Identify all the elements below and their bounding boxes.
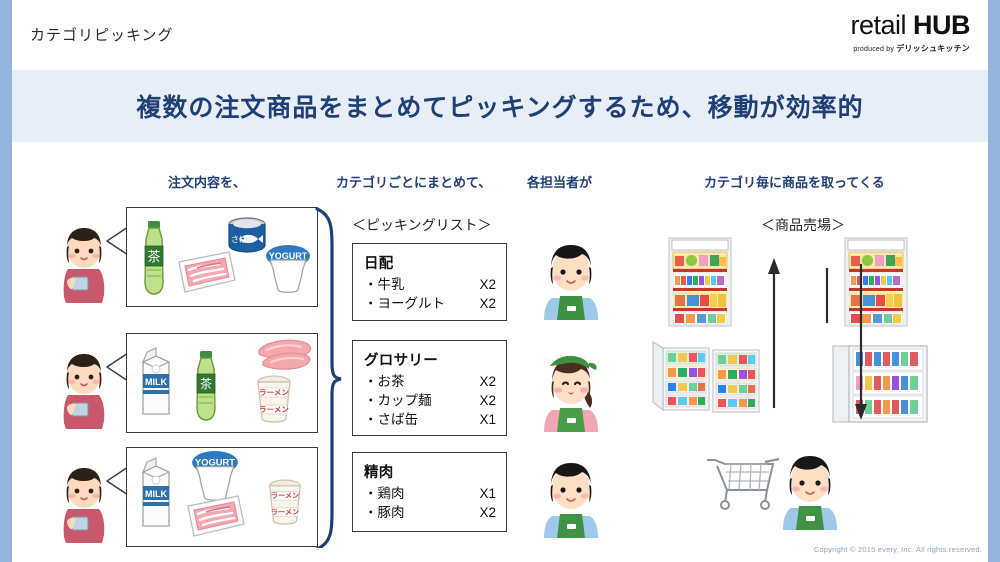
speech-tail (106, 351, 128, 383)
slide-canvas: カテゴリピッキング retail HUB produced by デリッシュキッ… (0, 0, 1000, 562)
picking-item-qty: X2 (479, 391, 496, 410)
meat-tray-icon (175, 250, 237, 296)
milk-carton-icon: MILK (135, 344, 177, 420)
svg-text:ラーメン: ラーメン (259, 405, 289, 414)
picking-line: ・カップ麺 X2 (364, 391, 496, 410)
banner-title: 複数の注文商品をまとめてピッキングするため、移動が効率的 (136, 88, 863, 124)
copyright-text: Copyright © 2015 every, Inc. All rights … (814, 545, 982, 554)
picking-item-name: ・豚肉 (364, 503, 405, 522)
picking-item-name: ・さば缶 (364, 410, 418, 429)
svg-text:MILK: MILK (145, 377, 167, 387)
shelf-cooler-left-b (713, 350, 759, 412)
staff-avatar-male (538, 458, 604, 540)
order-row: 茶 さば YOGURT (58, 207, 318, 315)
caption-staff: 各担当者が (527, 172, 592, 191)
order-contents-box: MILK 茶 ラーメン (126, 333, 318, 433)
svg-text:YOGURT: YOGURT (195, 458, 235, 468)
picking-line: ・さば缶 X1 (364, 410, 496, 429)
grouping-brace (312, 205, 344, 553)
caption-grouping: カテゴリごとにまとめて、 (336, 172, 491, 191)
svg-text:YOGURT: YOGURT (269, 251, 308, 261)
logo-hub-text: HUB (913, 10, 970, 40)
svg-text:茶: 茶 (200, 376, 212, 391)
shelf-top-right (845, 238, 907, 326)
green-tea-bottle-icon: 茶 (137, 220, 171, 296)
svg-text:ラーメン: ラーメン (271, 492, 299, 500)
picking-card-category: 精肉 (364, 461, 496, 482)
picking-line: ・ヨーグルト X2 (364, 294, 496, 313)
order-contents-box: 茶 さば YOGURT (126, 207, 318, 307)
logo-wordmark: retail HUB (850, 12, 970, 39)
store-layout-diagram (655, 228, 990, 538)
logo-brand-text: デリッシュキッチン (896, 44, 970, 53)
picking-line: ・牛乳 X2 (364, 275, 496, 294)
svg-text:ラーメン: ラーメン (271, 508, 299, 516)
picking-item-qty: X1 (479, 484, 496, 503)
pork-tray-icon (183, 494, 247, 540)
picking-line: ・お茶 X2 (364, 372, 496, 391)
picking-card: 精肉 ・鶏肉 X1 ・豚肉 X2 (352, 452, 507, 532)
left-blue-rail (0, 0, 12, 562)
picking-item-qty: X2 (479, 294, 496, 313)
subcaption-picking-list: ＜ピッキングリスト＞ (352, 215, 492, 235)
picking-line: ・豚肉 X2 (364, 503, 496, 522)
picking-card: グロサリー ・お茶 X2 ・カップ麺 X2 ・さば缶 X1 (352, 340, 507, 436)
staff-avatar-male (538, 240, 604, 322)
green-tea-bottle-icon: 茶 (189, 350, 223, 422)
cup-noodle-icon: ラーメン ラーメン (263, 478, 307, 528)
route-arrow-up (768, 258, 780, 408)
svg-text:MILK: MILK (145, 489, 167, 499)
chicken-fillet-icon (253, 338, 315, 374)
picking-card-category: グロサリー (364, 349, 496, 370)
svg-text:ラーメン: ラーメン (259, 388, 289, 397)
picking-item-name: ・牛乳 (364, 275, 405, 294)
caption-shelf: カテゴリ毎に商品を取ってくる (704, 172, 885, 191)
milk-carton-icon: MILK (135, 454, 177, 532)
customer-avatar (58, 351, 110, 431)
picking-item-name: ・ヨーグルト (364, 294, 445, 313)
picking-line: ・鶏肉 X1 (364, 484, 496, 503)
svg-text:茶: 茶 (147, 249, 160, 264)
picking-item-qty: X2 (479, 275, 496, 294)
cup-noodle-icon: ラーメン ラーメン (251, 374, 297, 426)
page-title: カテゴリピッキング (30, 24, 174, 45)
picking-item-name: ・鶏肉 (364, 484, 405, 503)
picking-card: 日配 ・牛乳 X2 ・ヨーグルト X2 (352, 243, 507, 321)
picking-card-category: 日配 (364, 252, 496, 273)
caption-orders: 注文内容を、 (168, 172, 246, 191)
order-row: MILK YOGURT ラーメン ラーメン (58, 447, 318, 555)
logo-producedby-text: produced by (853, 46, 896, 53)
picking-item-qty: X2 (479, 372, 496, 391)
picking-item-qty: X1 (479, 410, 496, 429)
staff-with-cart (783, 456, 837, 530)
logo-tagline: produced by デリッシュキッチン (850, 43, 970, 54)
svg-text:さば: さば (231, 235, 247, 244)
picking-item-name: ・お茶 (364, 372, 405, 391)
speech-tail (106, 465, 128, 497)
brand-logo: retail HUB produced by デリッシュキッチン (850, 12, 970, 54)
order-contents-box: MILK YOGURT ラーメン ラーメン (126, 447, 318, 547)
slide-header: カテゴリピッキング retail HUB produced by デリッシュキッ… (12, 0, 988, 66)
customer-avatar (58, 225, 110, 305)
picking-item-name: ・カップ麺 (364, 391, 432, 410)
speech-tail (106, 225, 128, 257)
shelf-cooler-left-a (653, 342, 709, 410)
picking-item-qty: X2 (479, 503, 496, 522)
shelf-top-left (669, 238, 731, 326)
customer-avatar (58, 465, 110, 545)
shopping-cart (707, 459, 779, 509)
logo-retail-text: retail (850, 10, 913, 40)
title-banner: 複数の注文商品をまとめてピッキングするため、移動が効率的 (12, 70, 988, 142)
order-row: MILK 茶 ラーメン (58, 333, 318, 441)
shelf-cooler-right (833, 346, 849, 422)
staff-avatar-female (538, 352, 604, 434)
yogurt-cup-icon: YOGURT (264, 244, 312, 294)
mackerel-can-icon: さば (225, 215, 269, 255)
